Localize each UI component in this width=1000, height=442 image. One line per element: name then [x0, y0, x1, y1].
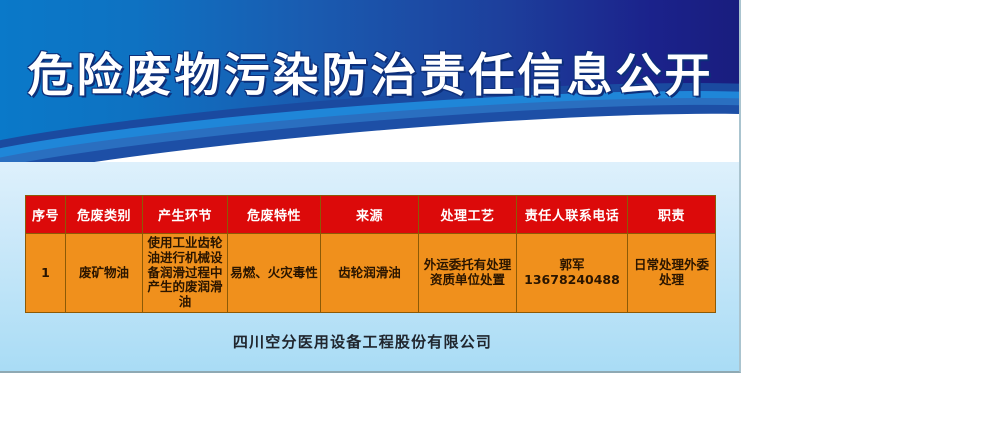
- poster-title: 危险废物污染防治责任信息公开: [0, 52, 741, 98]
- column-header-duty: 职责: [628, 196, 716, 234]
- column-header-category: 危废类别: [66, 196, 143, 234]
- cell-treatment-process: 外运委托有处理资质单位处置: [419, 234, 517, 313]
- poster-header-band: 危险废物污染防治责任信息公开: [0, 0, 741, 162]
- table-header-row: 序号 危废类别 产生环节 危废特性 来源 处理工艺 责任人联系电话 职责: [26, 196, 716, 234]
- column-header-index: 序号: [26, 196, 66, 234]
- information-disclosure-poster: 危险废物污染防治责任信息公开 序号 危废类别 产生环节 危废特性 来源 处理工艺…: [0, 0, 741, 373]
- column-header-source: 来源: [321, 196, 419, 234]
- company-name: 四川空分医用设备工程股份有限公司: [0, 331, 725, 352]
- column-header-stage: 产生环节: [143, 196, 228, 234]
- cell-duty: 日常处理外委处理: [628, 234, 716, 313]
- cell-characteristics: 易燃、火灾毒性: [228, 234, 321, 313]
- responsible-person-name: 郭军: [519, 258, 625, 273]
- column-header-contact: 责任人联系电话: [517, 196, 628, 234]
- table-row: 1 废矿物油 使用工业齿轮油进行机械设备润滑过程中产生的废润滑油 易燃、火灾毒性…: [26, 234, 716, 313]
- responsible-person-phone: 13678240488: [519, 273, 625, 288]
- hazardous-waste-table: 序号 危废类别 产生环节 危废特性 来源 处理工艺 责任人联系电话 职责 1 废…: [25, 195, 716, 313]
- cell-contact: 郭军 13678240488: [517, 234, 628, 313]
- column-header-characteristics: 危废特性: [228, 196, 321, 234]
- cell-index: 1: [26, 234, 66, 313]
- column-header-treatment: 处理工艺: [419, 196, 517, 234]
- cell-generation-stage: 使用工业齿轮油进行机械设备润滑过程中产生的废润滑油: [143, 234, 228, 313]
- cell-source: 齿轮润滑油: [321, 234, 419, 313]
- cell-category: 废矿物油: [66, 234, 143, 313]
